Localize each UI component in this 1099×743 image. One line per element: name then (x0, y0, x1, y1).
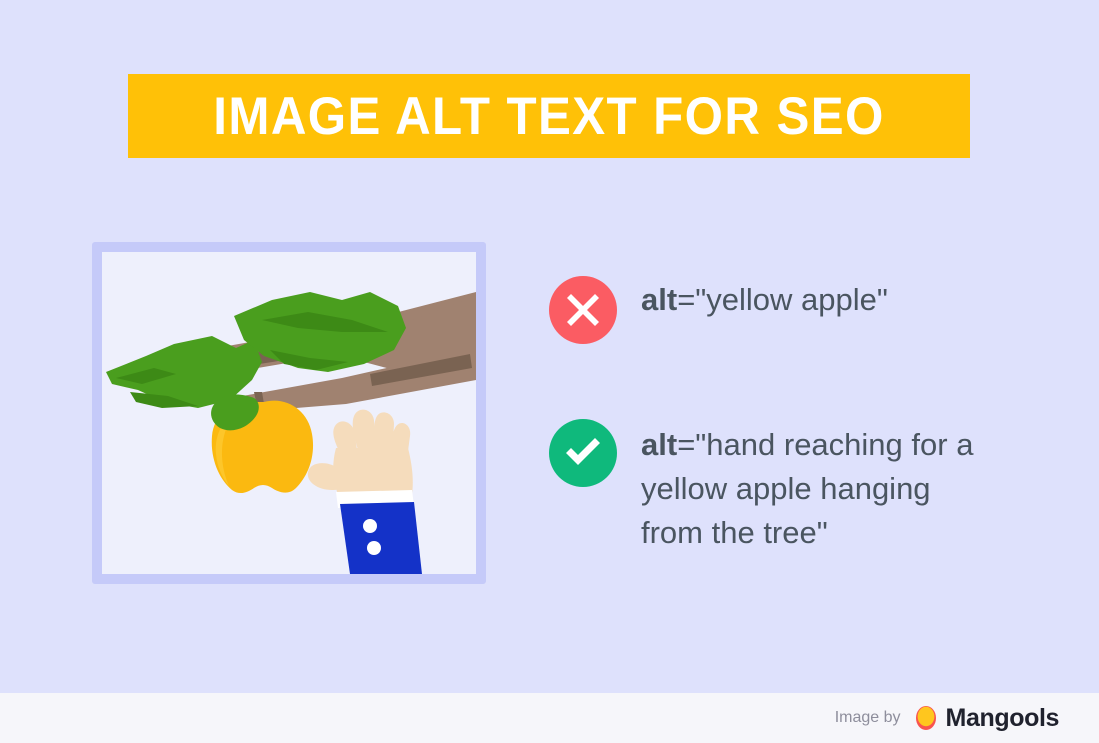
cross-icon (549, 276, 617, 344)
check-icon (549, 419, 617, 487)
illustration-canvas (102, 252, 476, 574)
apple-tree-illustration (102, 252, 476, 574)
alt-attribute-value-bad: ="yellow apple" (677, 282, 888, 317)
alt-attribute-name-bad: alt (641, 282, 677, 317)
alt-attribute-value-good: ="hand reaching for a yellow apple hangi… (641, 427, 973, 550)
page-title: IMAGE ALT TEXT FOR SEO (213, 90, 884, 143)
alt-attribute-name-good: alt (641, 427, 677, 462)
check-icon-glyph (549, 419, 617, 487)
sleeve-button-1 (363, 519, 377, 533)
alt-example-good: alt="hand reaching for a yellow apple ha… (549, 419, 1001, 555)
page-canvas: IMAGE ALT TEXT FOR SEO (0, 0, 1099, 693)
illustration-frame (92, 242, 486, 584)
alt-text-bad: alt="yellow apple" (641, 276, 888, 322)
image-credit: Image by Mangools (835, 693, 1059, 743)
alt-text-good: alt="hand reaching for a yellow apple ha… (641, 419, 1001, 555)
hand-palm (333, 448, 413, 494)
mango-logo-icon (915, 705, 937, 731)
cross-icon-glyph (549, 276, 617, 344)
sleeve-button-2 (367, 541, 381, 555)
footer: Image by Mangools (0, 693, 1099, 743)
alt-example-bad: alt="yellow apple" (549, 276, 888, 344)
credit-label: Image by (835, 709, 901, 727)
title-banner: IMAGE ALT TEXT FOR SEO (128, 74, 970, 158)
brand-name: Mangools (946, 704, 1059, 733)
sleeve (340, 502, 422, 574)
